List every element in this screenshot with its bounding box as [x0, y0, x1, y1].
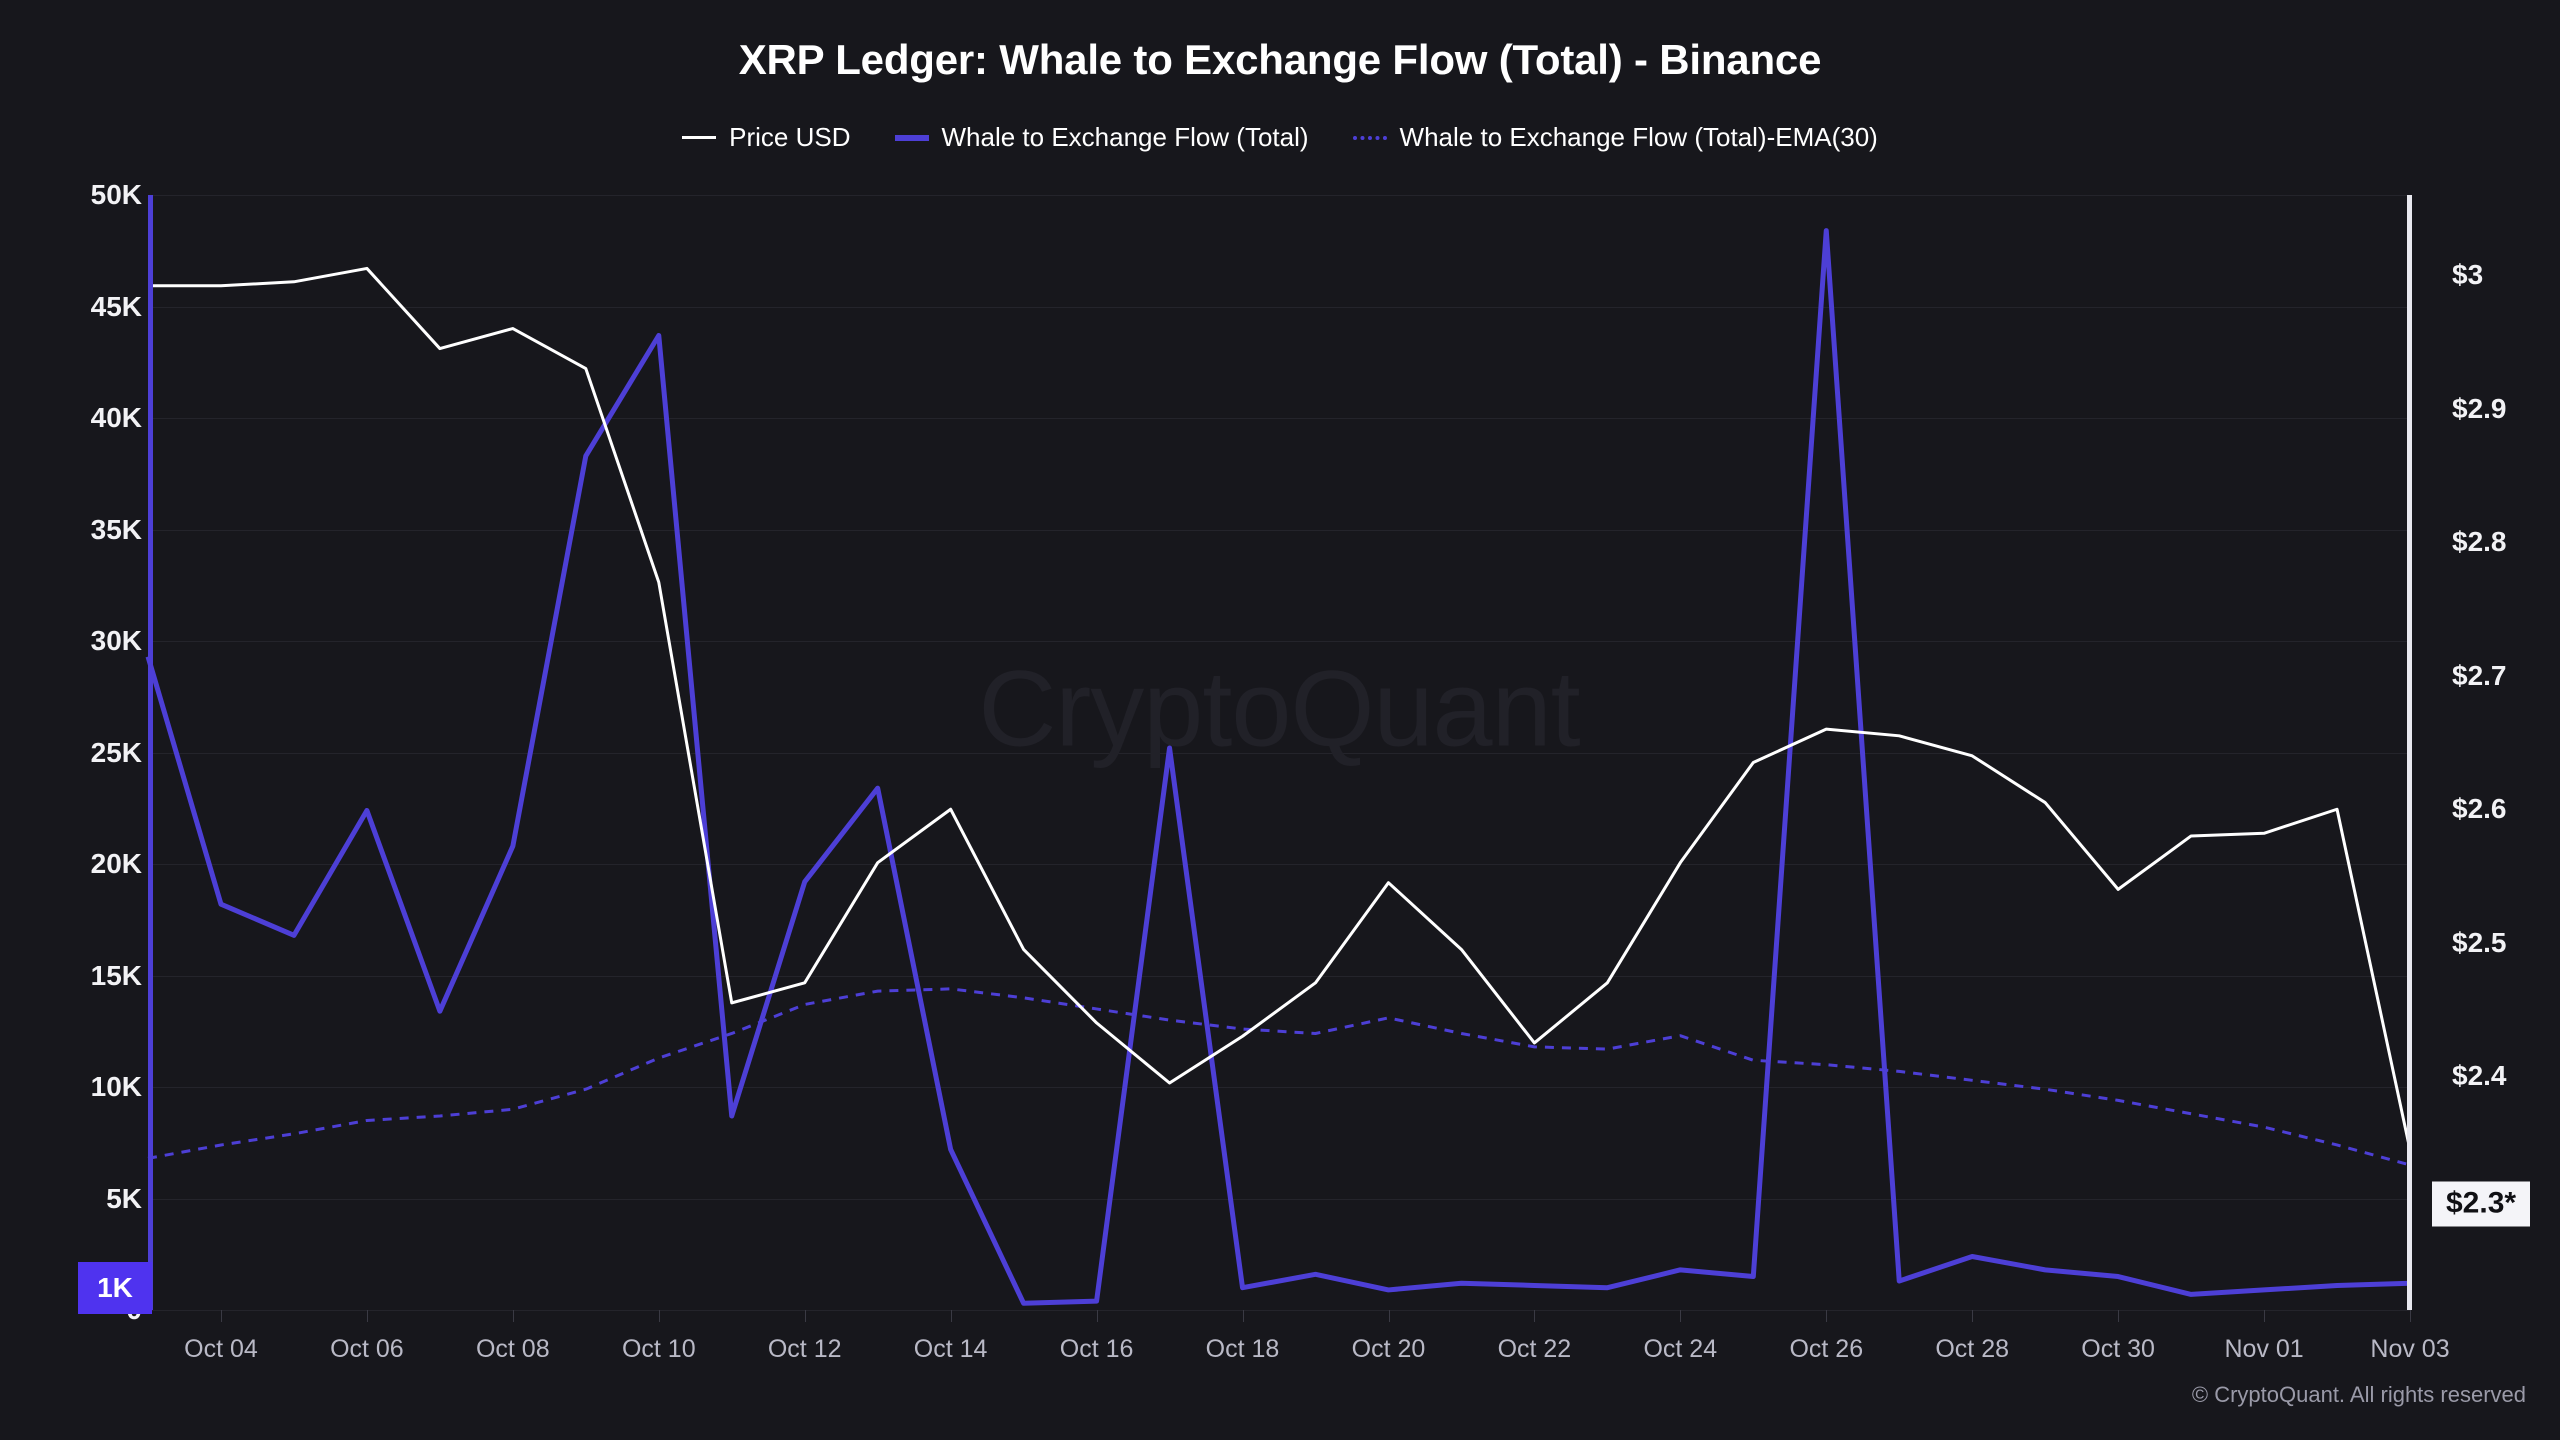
right-axis-tick-label: $2.8 — [2452, 526, 2560, 558]
left-axis-tick-label: 45K — [0, 291, 142, 323]
legend-item-0[interactable]: Price USD — [682, 122, 850, 153]
legend-item-label: Whale to Exchange Flow (Total)-EMA(30) — [1400, 122, 1878, 153]
left-axis-tick-label: 50K — [0, 179, 142, 211]
left-axis-tick-label: 15K — [0, 960, 142, 992]
x-axis-tick-label: Oct 14 — [914, 1335, 988, 1364]
series-line-whale-to-exchange-flow-total-ema-30 — [148, 989, 2410, 1165]
left-axis-tick-label: 35K — [0, 514, 142, 546]
x-axis-tick-mark — [951, 1310, 952, 1322]
left-axis-tick-label: 30K — [0, 625, 142, 657]
left-axis-tick-label: 10K — [0, 1071, 142, 1103]
x-axis-tick-label: Oct 24 — [1643, 1335, 1717, 1364]
series-svg — [148, 195, 2410, 1310]
legend-swatch-icon — [895, 135, 929, 141]
x-axis-tick-label: Oct 16 — [1060, 1335, 1134, 1364]
x-axis-tick-mark — [513, 1310, 514, 1322]
x-axis-tick-label: Oct 26 — [1789, 1335, 1863, 1364]
right-axis-tick-label: $3 — [2452, 259, 2560, 291]
legend-item-2[interactable]: Whale to Exchange Flow (Total)-EMA(30) — [1353, 122, 1878, 153]
x-axis-tick-mark — [1972, 1310, 1973, 1322]
page-title: XRP Ledger: Whale to Exchange Flow (Tota… — [0, 36, 2560, 84]
x-axis-tick-label: Oct 22 — [1498, 1335, 1572, 1364]
x-axis-tick-mark — [2118, 1310, 2119, 1322]
x-axis-tick-label: Oct 08 — [476, 1335, 550, 1364]
x-axis-tick-label: Oct 06 — [330, 1335, 404, 1364]
plot-area: CryptoQuant — [148, 195, 2410, 1310]
x-axis-tick-label: Oct 30 — [2081, 1335, 2155, 1364]
left-axis-tick-label: 25K — [0, 737, 142, 769]
left-axis-current-badge: 1K — [78, 1262, 152, 1314]
legend-swatch-icon — [682, 136, 716, 139]
left-axis-spine — [148, 195, 153, 1310]
x-axis-tick-mark — [1389, 1310, 1390, 1322]
gridline — [148, 1310, 2410, 1311]
chart-page: XRP Ledger: Whale to Exchange Flow (Tota… — [0, 0, 2560, 1440]
left-axis-tick-label: 20K — [0, 848, 142, 880]
right-axis-spine — [2407, 195, 2412, 1310]
legend-item-label: Whale to Exchange Flow (Total) — [942, 122, 1309, 153]
x-axis-tick-mark — [1680, 1310, 1681, 1322]
x-axis-tick-mark — [221, 1310, 222, 1322]
left-axis-tick-label: 40K — [0, 402, 142, 434]
x-axis-tick-mark — [805, 1310, 806, 1322]
x-axis-tick-label: Oct 10 — [622, 1335, 696, 1364]
right-axis-tick-label: $2.9 — [2452, 393, 2560, 425]
x-axis-tick-label: Oct 12 — [768, 1335, 842, 1364]
x-axis-tick-mark — [2264, 1310, 2265, 1322]
x-axis-tick-label: Oct 18 — [1206, 1335, 1280, 1364]
x-axis-tick-mark — [367, 1310, 368, 1322]
right-axis-current-badge: $2.3* — [2432, 1181, 2530, 1226]
x-axis-tick-label: Oct 28 — [1935, 1335, 2009, 1364]
x-axis-tick-mark — [1534, 1310, 1535, 1322]
legend-swatch-icon — [1353, 136, 1387, 140]
x-axis-tick-label: Nov 03 — [2370, 1335, 2449, 1364]
x-axis-tick-label: Oct 04 — [184, 1335, 258, 1364]
x-axis-tick-label: Nov 01 — [2224, 1335, 2303, 1364]
series-line-whale-to-exchange-flow-total — [148, 231, 2410, 1304]
x-axis-tick-mark — [1097, 1310, 1098, 1322]
right-axis-tick-label: $2.7 — [2452, 660, 2560, 692]
right-axis-tick-label: $2.5 — [2452, 927, 2560, 959]
x-axis-tick-label: Oct 20 — [1352, 1335, 1426, 1364]
right-axis-tick-label: $2.6 — [2452, 793, 2560, 825]
right-axis-tick-label: $2.4 — [2452, 1060, 2560, 1092]
series-line-price-usd — [148, 268, 2410, 1149]
footer-credit: © CryptoQuant. All rights reserved — [2192, 1382, 2526, 1408]
legend-item-1[interactable]: Whale to Exchange Flow (Total) — [895, 122, 1309, 153]
x-axis-tick-mark — [1243, 1310, 1244, 1322]
x-axis-tick-mark — [659, 1310, 660, 1322]
left-axis-tick-label: 5K — [0, 1183, 142, 1215]
x-axis-tick-mark — [1826, 1310, 1827, 1322]
x-axis-tick-mark — [2410, 1310, 2411, 1322]
chart-legend: Price USDWhale to Exchange Flow (Total)W… — [0, 122, 2560, 153]
legend-item-label: Price USD — [729, 122, 850, 153]
